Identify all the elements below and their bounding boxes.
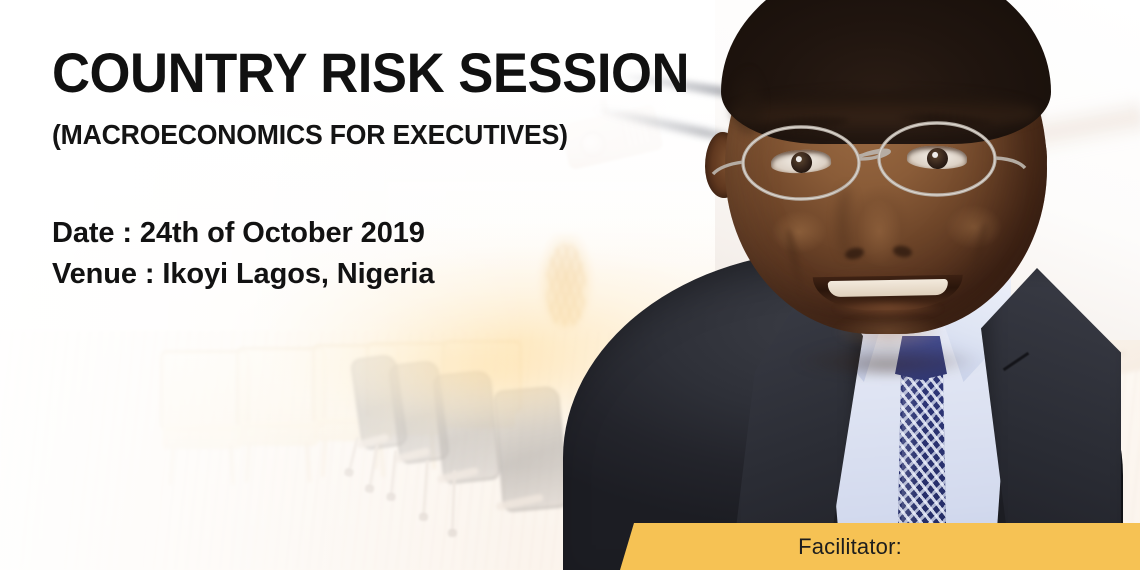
chair-leg-left: [169, 446, 176, 485]
facilitator-label: Facilitator:: [798, 534, 902, 560]
teeth: [828, 279, 948, 297]
eyelid-right: [907, 145, 967, 152]
chair-leg-left: [320, 439, 327, 478]
event-text-block: COUNTRY RISK SESSION (MACROECONOMICS FOR…: [52, 44, 712, 295]
chair-leg-right: [305, 443, 312, 482]
page-subtitle: (MACROECONOMICS FOR EXECUTIVES): [52, 120, 679, 151]
page-title: COUNTRY RISK SESSION: [52, 44, 672, 102]
chair-leg-left: [245, 443, 252, 482]
stacking-chair: [160, 350, 244, 480]
event-details: Date : 24th of October 2019 Venue : Ikoy…: [52, 213, 712, 295]
temple-shadow: [713, 60, 765, 146]
chair-leg-right: [229, 446, 236, 485]
stacking-chair: [236, 347, 320, 477]
jaw-shadow: [751, 300, 1023, 372]
mesh-office-chair: [432, 369, 501, 484]
chair-back: [432, 369, 501, 484]
cheek-highlight-left: [763, 204, 835, 260]
event-venue: Venue : Ikoyi Lagos, Nigeria: [52, 254, 712, 295]
event-date: Date : 24th of October 2019: [52, 213, 712, 254]
event-banner: COUNTRY RISK SESSION (MACROECONOMICS FOR…: [0, 0, 1140, 570]
cheek-highlight-right: [937, 198, 1011, 256]
facilitator-banner: Facilitator:: [620, 523, 1140, 570]
